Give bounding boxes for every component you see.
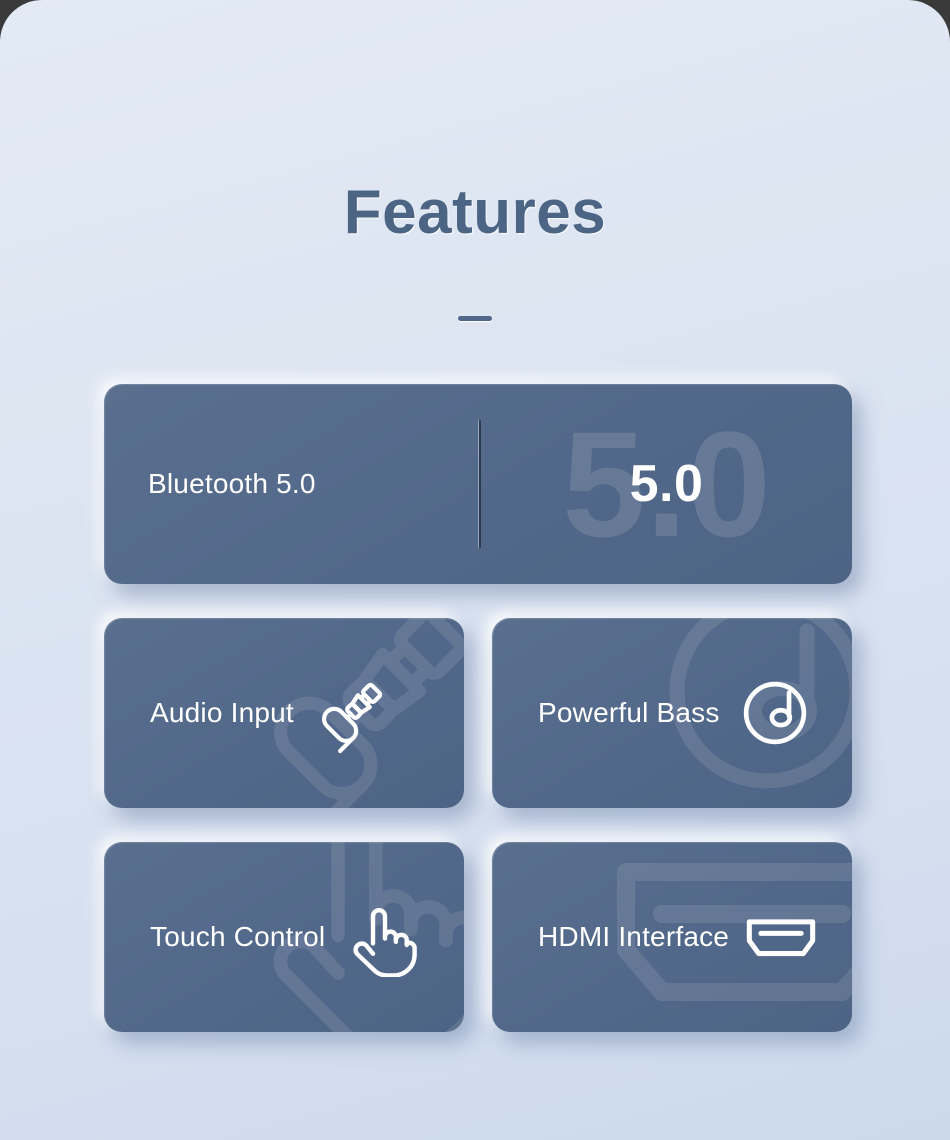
panel-header: Features	[0, 0, 950, 321]
bluetooth-version-value: 5.0	[630, 454, 704, 514]
bluetooth-value-area: 5.0 5.0	[481, 384, 852, 584]
audio-jack-cable-icon	[310, 671, 394, 755]
music-note-circle-icon	[736, 674, 814, 752]
feature-card-bluetooth[interactable]: Bluetooth 5.0 5.0 5.0	[104, 384, 852, 584]
bluetooth-label-area: Bluetooth 5.0	[148, 468, 478, 500]
feature-card-grid: Bluetooth 5.0 5.0 5.0	[104, 384, 852, 1066]
page-title: Features	[0, 0, 950, 244]
feature-label-powerful-bass: Powerful Bass	[538, 697, 720, 729]
feature-card-audio-input[interactable]: Audio Input	[104, 618, 464, 808]
feature-label-touch-control: Touch Control	[150, 921, 325, 953]
feature-label-bluetooth: Bluetooth 5.0	[148, 468, 316, 500]
features-panel: Features Bluetooth 5.0 5.0 5.0	[0, 0, 950, 1140]
feature-card-touch-control[interactable]: Touch Control	[104, 842, 464, 1032]
hand-tap-gesture-icon	[341, 897, 421, 977]
feature-label-hdmi-interface: HDMI Interface	[538, 921, 729, 953]
feature-card-row-3: Touch Control	[104, 842, 852, 1032]
feature-card-hdmi-interface[interactable]: HDMI Interface	[492, 842, 852, 1032]
feature-card-powerful-bass[interactable]: Powerful Bass	[492, 618, 852, 808]
feature-card-row-2: Audio Input	[104, 618, 852, 808]
feature-label-audio-input: Audio Input	[150, 697, 294, 729]
title-divider	[458, 316, 492, 321]
hdmi-port-icon	[745, 914, 817, 960]
